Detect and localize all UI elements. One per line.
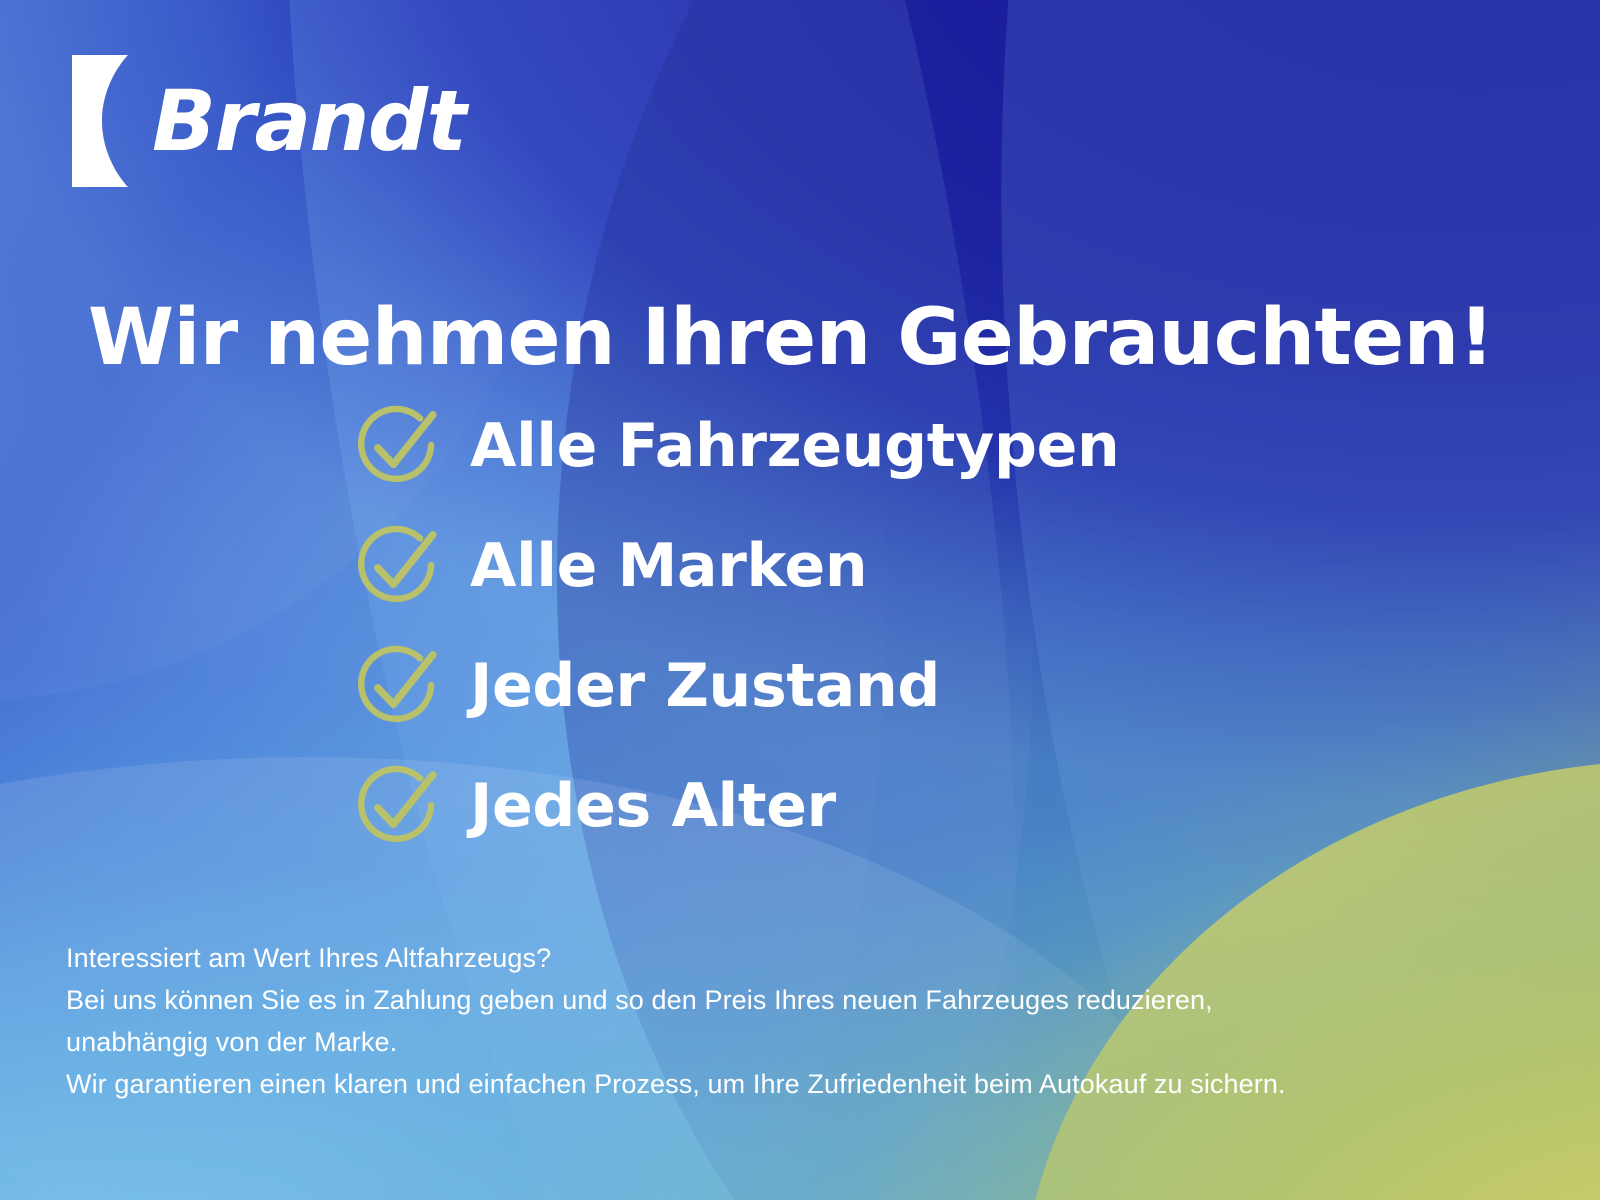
list-item-label: Alle Marken [470, 536, 867, 596]
list-item: Alle Fahrzeugtypen [352, 398, 1119, 494]
brandt-crescent-mark-icon [72, 55, 144, 187]
benefits-list: Alle Fahrzeugtypen Alle Marken Jeder Zus… [352, 398, 1119, 854]
list-item: Alle Marken [352, 518, 1119, 614]
footer-line: Interessiert am Wert Ihres Altfahrzeugs? [66, 938, 1536, 980]
list-item: Jeder Zustand [352, 638, 1119, 734]
brand-logo: Brandt [72, 55, 465, 187]
check-circle-icon [352, 760, 444, 852]
page-title: Wir nehmen Ihren Gebrauchten! [88, 298, 1528, 380]
check-circle-icon [352, 520, 444, 612]
list-item-label: Jeder Zustand [470, 656, 940, 716]
list-item: Jedes Alter [352, 758, 1119, 854]
check-circle-icon [352, 400, 444, 492]
footer-description: Interessiert am Wert Ihres Altfahrzeugs?… [66, 938, 1536, 1105]
footer-line: unabhängig von der Marke. [66, 1022, 1536, 1064]
brand-name: Brandt [152, 79, 465, 163]
list-item-label: Jedes Alter [470, 776, 836, 836]
list-item-label: Alle Fahrzeugtypen [470, 416, 1119, 476]
footer-line: Wir garantieren einen klaren und einfach… [66, 1064, 1536, 1106]
footer-line: Bei uns können Sie es in Zahlung geben u… [66, 980, 1536, 1022]
poster-content: Brandt Wir nehmen Ihren Gebrauchten! All… [0, 0, 1600, 1200]
promo-poster: Brandt Wir nehmen Ihren Gebrauchten! All… [0, 0, 1600, 1200]
check-circle-icon [352, 640, 444, 732]
